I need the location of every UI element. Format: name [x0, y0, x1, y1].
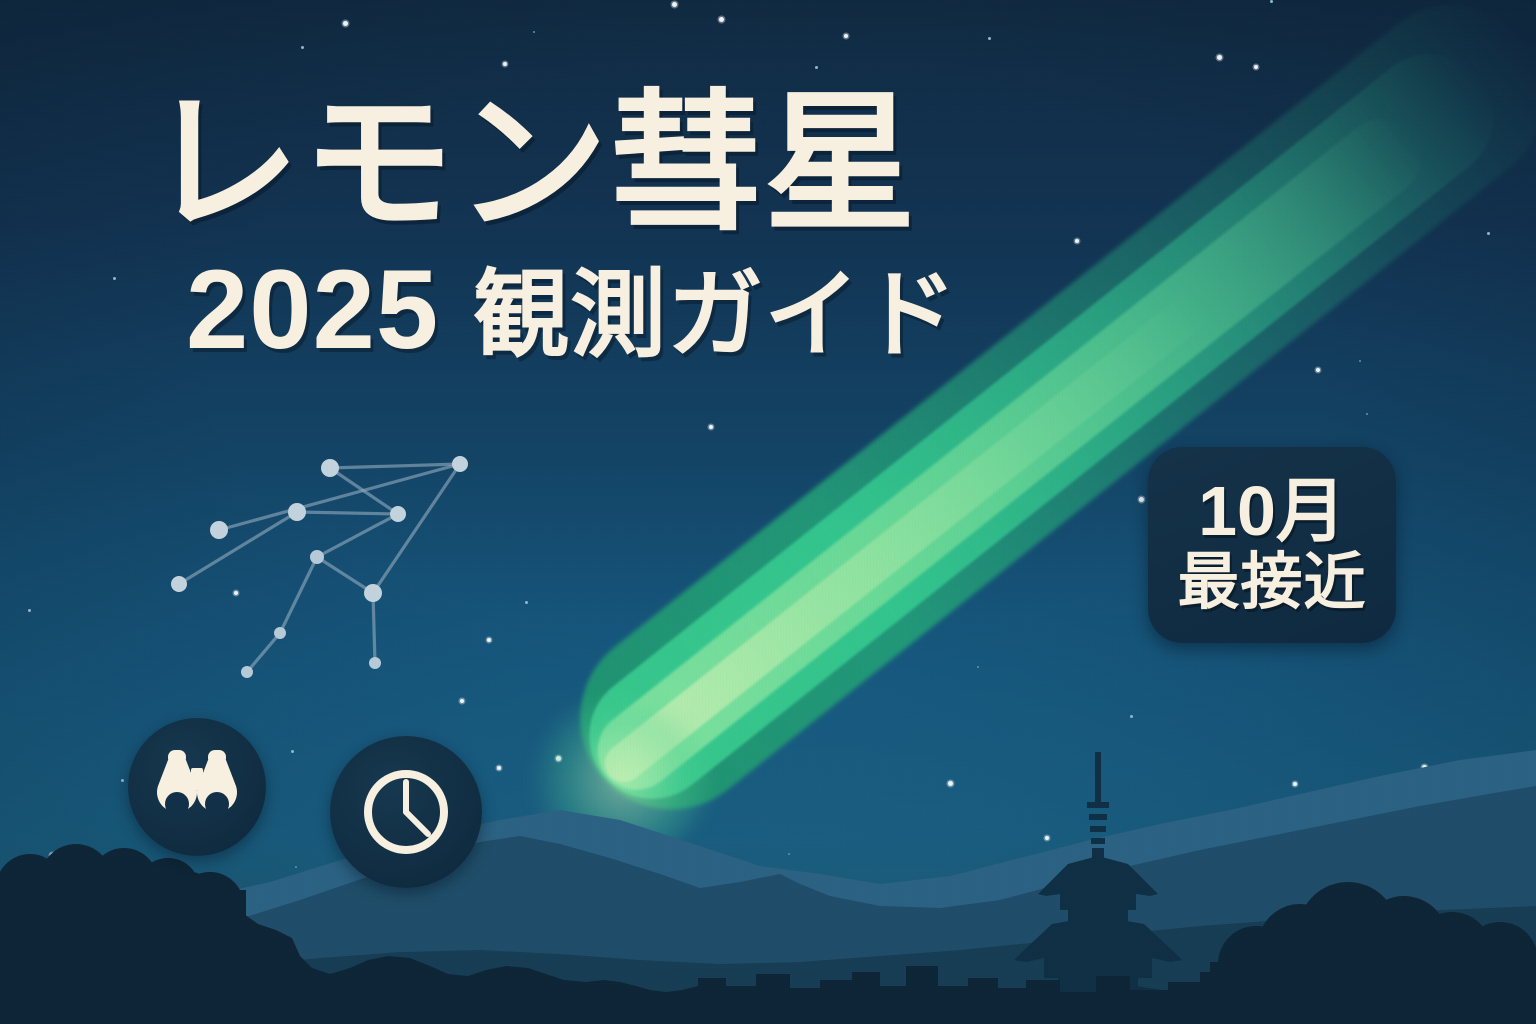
- constellation-line: [247, 633, 280, 672]
- constellation-line: [280, 557, 317, 633]
- closest-approach-badge: 10月 最接近: [1148, 447, 1396, 643]
- constellation-star: [390, 506, 406, 522]
- constellation-star: [171, 576, 187, 592]
- binoculars-icon-chip: [128, 718, 266, 856]
- badge-closest-approach-label: 最接近: [1177, 550, 1366, 615]
- constellation-line: [317, 514, 398, 557]
- subtitle-guide-label: 観測ガイド: [473, 268, 958, 364]
- subtitle-year: 2025: [186, 254, 439, 366]
- binoculars-icon: [151, 748, 243, 826]
- page-subtitle: 2025 観測ガイド: [186, 254, 958, 366]
- clock-icon-chip: [330, 736, 482, 888]
- constellation-star: [369, 657, 381, 669]
- constellation-star: [288, 503, 306, 521]
- page-title: レモン彗星: [148, 88, 958, 240]
- constellation-star: [364, 584, 382, 602]
- constellation-star: [321, 459, 339, 477]
- constellation-line: [179, 512, 297, 584]
- clock-icon: [360, 766, 452, 858]
- constellation-star: [452, 456, 468, 472]
- constellation-star: [210, 521, 228, 539]
- constellation-star: [241, 666, 253, 678]
- badge-month-label: 10月: [1198, 475, 1346, 549]
- constellation-line: [297, 512, 398, 514]
- constellation-line: [330, 464, 460, 468]
- constellation-line: [317, 557, 373, 593]
- constellation-star: [310, 550, 324, 564]
- constellation-line: [373, 593, 375, 663]
- poster-canvas: レモン彗星 2025 観測ガイド 10月 最接近: [0, 0, 1536, 1024]
- title-block: レモン彗星 2025 観測ガイド: [148, 88, 958, 366]
- constellation-star: [274, 627, 286, 639]
- tree-cluster-left: [0, 844, 246, 1024]
